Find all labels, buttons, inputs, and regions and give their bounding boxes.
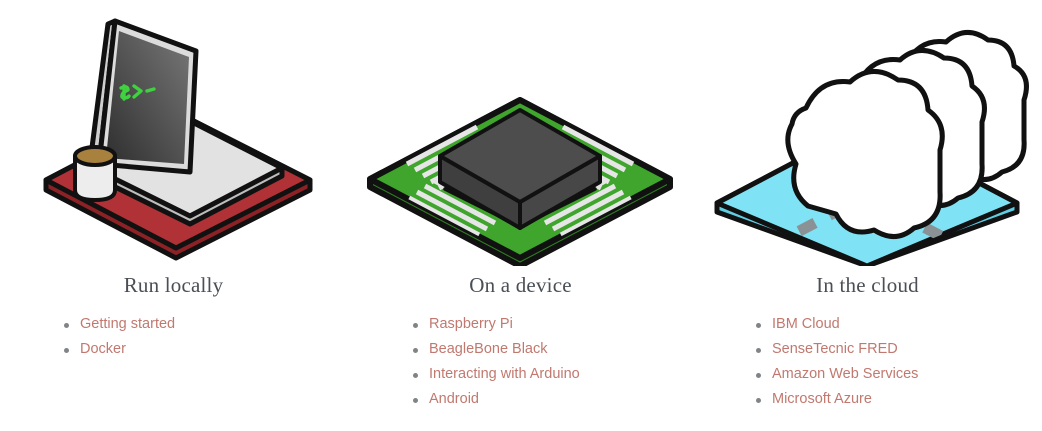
list-item[interactable]: Interacting with Arduino bbox=[347, 362, 694, 387]
list-item[interactable]: Raspberry Pi bbox=[347, 312, 694, 337]
list-item[interactable]: Docker bbox=[0, 337, 347, 362]
list-item[interactable]: Microsoft Azure bbox=[694, 387, 1041, 412]
column-run-locally: Run locally Getting started Docker bbox=[0, 0, 347, 431]
cloud-illustration bbox=[694, 4, 1041, 266]
list-item[interactable]: BeagleBone Black bbox=[347, 337, 694, 362]
list-item[interactable]: Getting started bbox=[0, 312, 347, 337]
link-interacting-with-arduino[interactable]: Interacting with Arduino bbox=[429, 366, 580, 382]
link-ibm-cloud[interactable]: IBM Cloud bbox=[772, 316, 840, 332]
link-list-run-locally: Getting started Docker bbox=[0, 312, 347, 362]
bullet-icon bbox=[413, 348, 418, 353]
bullet-icon bbox=[64, 348, 69, 353]
link-docker[interactable]: Docker bbox=[80, 341, 126, 357]
list-item[interactable]: SenseTecnic FRED bbox=[694, 337, 1041, 362]
bullet-icon bbox=[756, 398, 761, 403]
page-title-run-locally: Run locally bbox=[0, 272, 347, 298]
link-list-on-a-device: Raspberry Pi BeagleBone Black Interactin… bbox=[347, 312, 694, 412]
page-title-on-a-device: On a device bbox=[347, 272, 694, 298]
bullet-icon bbox=[413, 323, 418, 328]
bullet-icon bbox=[756, 373, 761, 378]
link-android[interactable]: Android bbox=[429, 391, 479, 407]
page-title-in-the-cloud: In the cloud bbox=[694, 272, 1041, 298]
link-amazon-web-services[interactable]: Amazon Web Services bbox=[772, 366, 918, 382]
deployment-options-board: Run locally Getting started Docker bbox=[0, 0, 1042, 431]
coffee-cup-icon bbox=[75, 147, 115, 200]
list-item[interactable]: Amazon Web Services bbox=[694, 362, 1041, 387]
link-sensetecnic-fred[interactable]: SenseTecnic FRED bbox=[772, 341, 898, 357]
link-list-in-the-cloud: IBM Cloud SenseTecnic FRED Amazon Web Se… bbox=[694, 312, 1041, 412]
column-on-a-device: On a device Raspberry Pi BeagleBone Blac… bbox=[347, 0, 694, 431]
link-raspberry-pi[interactable]: Raspberry Pi bbox=[429, 316, 513, 332]
circuit-board-illustration bbox=[347, 4, 694, 266]
list-item[interactable]: Android bbox=[347, 387, 694, 412]
laptop-illustration bbox=[0, 4, 347, 266]
bullet-icon bbox=[413, 373, 418, 378]
bullet-icon bbox=[64, 323, 69, 328]
column-in-the-cloud: In the cloud IBM Cloud SenseTecnic FRED … bbox=[694, 0, 1041, 431]
link-getting-started[interactable]: Getting started bbox=[80, 316, 175, 332]
link-microsoft-azure[interactable]: Microsoft Azure bbox=[772, 391, 872, 407]
bullet-icon bbox=[413, 398, 418, 403]
list-item[interactable]: IBM Cloud bbox=[694, 312, 1041, 337]
bullet-icon bbox=[756, 323, 761, 328]
bullet-icon bbox=[756, 348, 761, 353]
link-beaglebone-black[interactable]: BeagleBone Black bbox=[429, 341, 548, 357]
